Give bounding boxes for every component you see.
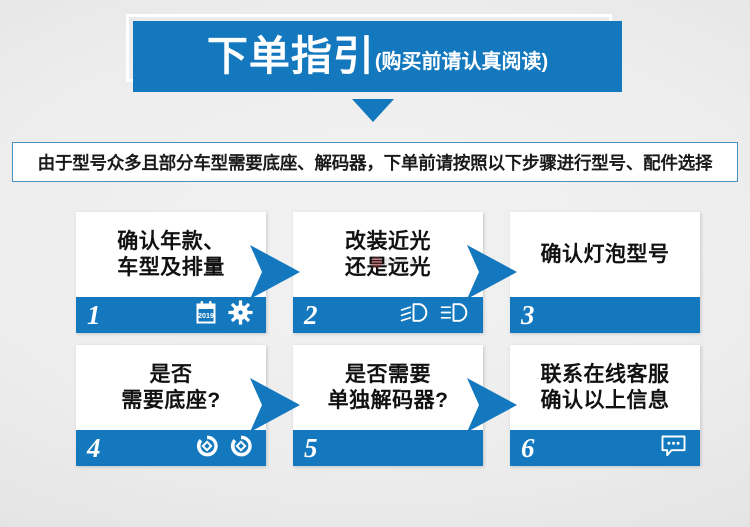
step-card-6[interactable]: 联系在线客服 确认以上信息 6 (510, 345, 700, 466)
step-card-3[interactable]: 确认灯泡型号 3 (510, 212, 700, 333)
step-card-6-number: 6 (521, 435, 535, 462)
step-card-1-title: 确认年款、 车型及排量 (117, 229, 225, 280)
step-card-5-title-line-2: 单独解码器? (328, 388, 449, 414)
order-guide-page: 下单指引 (购买前请认真阅读) 由于型号众多且部分车型需要底座、解码器，下单前请… (0, 0, 750, 527)
step-card-2-icons (400, 302, 470, 328)
step-card-2-body: 改装近光 还是远光 (293, 212, 483, 297)
gear-icon (228, 300, 253, 330)
step-card-1-number: 1 (87, 302, 101, 329)
step-card-4[interactable]: 是否 需要底座? 4 (76, 345, 266, 466)
step-card-3-title: 确认灯泡型号 (541, 242, 670, 268)
notice-text: 由于型号众多且部分车型需要底座、解码器，下单前请按照以下步骤进行型号、配件选择 (38, 150, 713, 175)
step-card-3-body: 确认灯泡型号 (510, 212, 700, 297)
step-card-2-number: 2 (304, 302, 318, 329)
low-beam-headlight-icon (400, 302, 430, 328)
step-card-6-title-line-1: 联系在线客服 (541, 362, 670, 388)
step-card-5-body: 是否需要 单独解码器? (293, 345, 483, 430)
step-card-2-footer: 2 (293, 297, 483, 333)
step-card-1-title-line-1: 确认年款、 (117, 229, 225, 255)
step-card-4-title-line-2: 需要底座? (121, 388, 220, 414)
step-card-6-title: 联系在线客服 确认以上信息 (541, 362, 670, 413)
step-card-6-icons (660, 434, 687, 463)
step-card-2[interactable]: 改装近光 还是远光 2 (293, 212, 483, 333)
header-banner: 下单指引 (购买前请认真阅读) (126, 14, 622, 92)
step-card-1[interactable]: 确认年款、 车型及排量 1 2019 (76, 212, 266, 333)
step-card-4-title-line-1: 是否 (121, 362, 220, 388)
step-card-3-number: 3 (521, 302, 535, 329)
arrow-right-icon (465, 243, 525, 301)
step-card-5-footer: 5 (293, 430, 483, 466)
step-card-6-body: 联系在线客服 确认以上信息 (510, 345, 700, 430)
step-card-1-footer: 1 2019 (76, 297, 266, 333)
arrow-right-icon (465, 376, 525, 434)
step-card-1-body: 确认年款、 车型及排量 (76, 212, 266, 297)
step-card-4-body: 是否 需要底座? (76, 345, 266, 430)
chat-bubble-icon (660, 434, 687, 463)
step-card-5[interactable]: 是否需要 单独解码器? 5 (293, 345, 483, 466)
high-beam-headlight-icon (440, 302, 470, 328)
step-card-3-title-line-1: 确认灯泡型号 (541, 242, 670, 268)
step-card-4-footer: 4 (76, 430, 266, 466)
step-card-4-icons (195, 434, 253, 463)
step-card-5-title: 是否需要 单独解码器? (328, 362, 449, 413)
arrow-right-icon (248, 376, 308, 434)
svg-text:2019: 2019 (198, 311, 214, 320)
step-card-1-icons: 2019 (194, 300, 253, 330)
calendar-2019-icon: 2019 (194, 300, 218, 330)
bulb-base-adapter-icon (229, 434, 253, 463)
step-card-6-title-line-2: 确认以上信息 (541, 388, 670, 414)
triangle-down-icon (352, 99, 394, 122)
arrow-right-icon (248, 243, 308, 301)
step-card-3-footer: 3 (510, 297, 700, 333)
page-title: 下单指引 (207, 36, 375, 77)
header-title-box: 下单指引 (购买前请认真阅读) (133, 21, 622, 92)
step-card-2-title-line-2: 还是远光 (345, 255, 431, 281)
step-card-2-title-line-1: 改装近光 (345, 229, 431, 255)
step-card-6-footer: 6 (510, 430, 700, 466)
step-card-5-title-line-1: 是否需要 (328, 362, 449, 388)
notice-banner: 由于型号众多且部分车型需要底座、解码器，下单前请按照以下步骤进行型号、配件选择 (12, 142, 738, 182)
bulb-base-adapter-icon (195, 434, 219, 463)
step-card-2-title: 改装近光 还是远光 (345, 229, 431, 280)
step-card-4-number: 4 (87, 435, 101, 462)
step-card-1-title-line-2: 车型及排量 (117, 255, 225, 281)
step-card-5-number: 5 (304, 435, 318, 462)
step-card-4-title: 是否 需要底座? (121, 362, 220, 413)
page-subtitle: (购买前请认真阅读) (375, 52, 548, 72)
